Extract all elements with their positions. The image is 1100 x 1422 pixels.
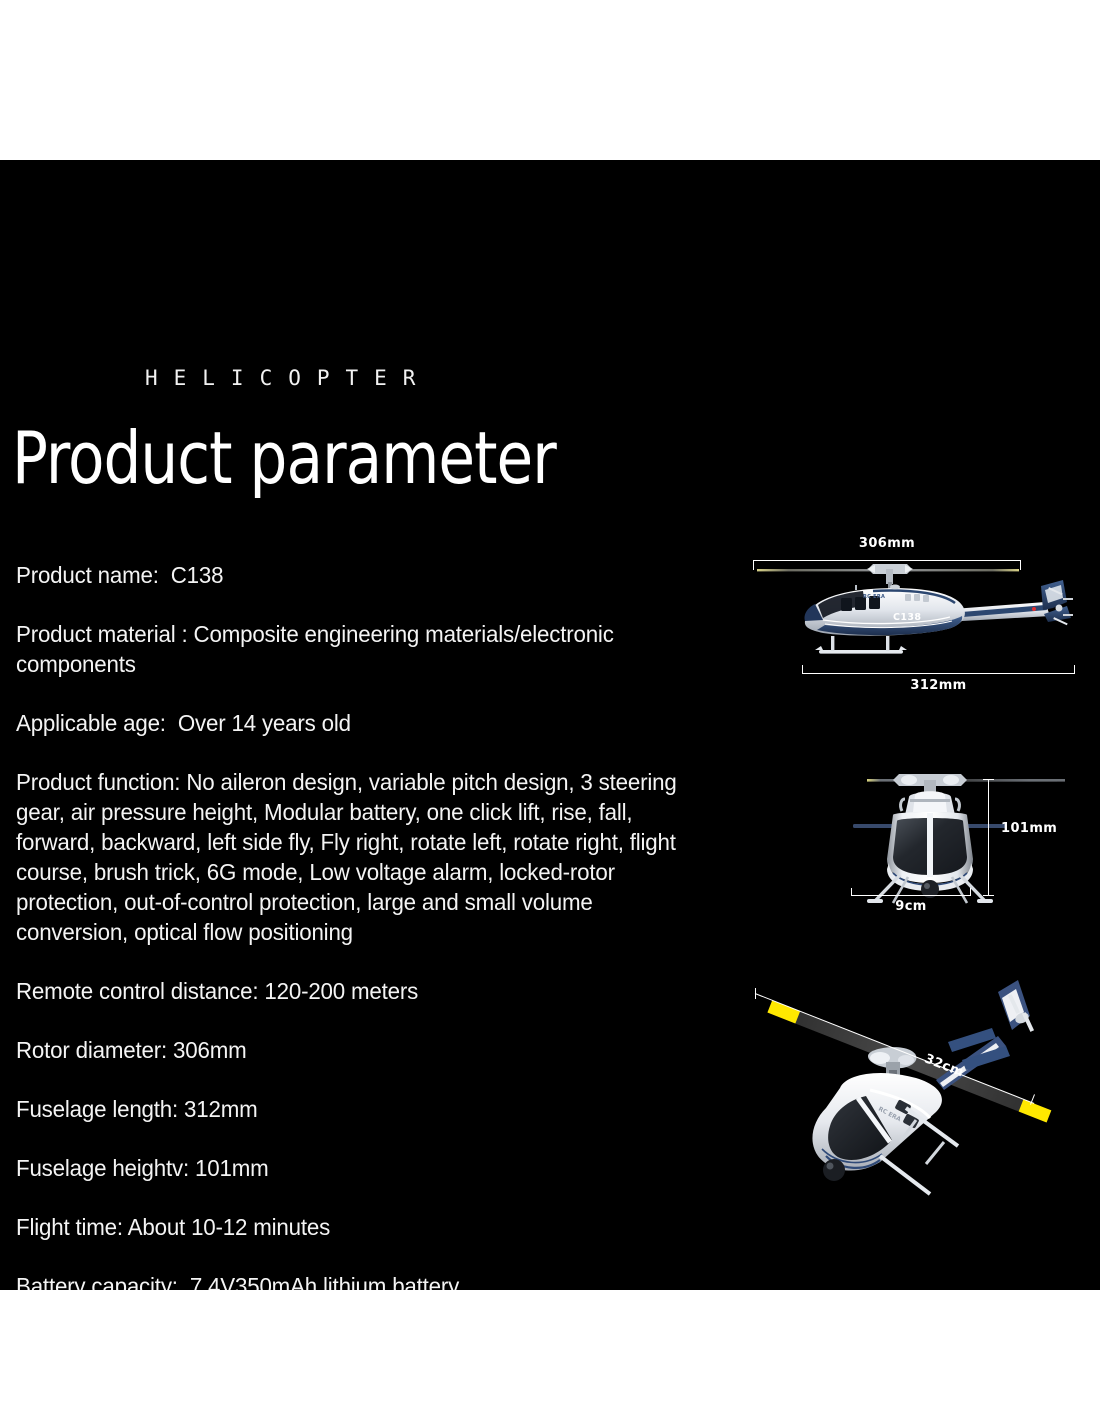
- dimension-cap-left-bottom: [802, 665, 803, 674]
- helicopter-angled-view-figure: RC ERA 32cm: [730, 950, 1100, 1212]
- spec-fuselage-height: Fuselage heightv: 101mm: [16, 1153, 681, 1183]
- helicopter-angled-illustration: RC ERA: [730, 950, 1100, 1212]
- spec-fuselage-length: Fuselage length: 312mm: [16, 1094, 681, 1124]
- spec-product-function: Product function: No aileron design, var…: [16, 767, 708, 947]
- helicopter-front-view-figure: 101mm 9cm: [745, 755, 1090, 930]
- dimension-line-fuselage: [802, 673, 1075, 674]
- dimension-cap-bottom: [983, 895, 994, 896]
- dimension-line-height: [988, 779, 989, 895]
- spec-rotor-diameter: Rotor diameter: 306mm: [16, 1035, 681, 1065]
- dimension-label-height: 101mm: [1001, 821, 1057, 836]
- kicker-heading: HELICOPTER: [145, 366, 431, 390]
- black-content-panel: HELICOPTER Product parameter Product nam…: [0, 160, 1100, 1290]
- spec-applicable-age: Applicable age: Over 14 years old: [16, 708, 681, 738]
- dimension-cap-span-start: [755, 988, 756, 999]
- dimension-cap-top: [983, 779, 994, 780]
- dimension-line-width: [851, 895, 971, 896]
- dimension-cap-width-right: [970, 888, 971, 896]
- page-title: Product parameter: [12, 422, 556, 494]
- spec-product-name: Product name: C138: [16, 560, 681, 590]
- helicopter-side-illustration: RC ERA C138: [745, 558, 1090, 678]
- dimension-cap-width-left: [851, 888, 852, 896]
- svg-text:RC ERA: RC ERA: [863, 594, 885, 600]
- product-parameter-page: HELICOPTER Product parameter Product nam…: [0, 0, 1100, 1422]
- spec-product-material: Product material : Composite engineering…: [16, 619, 708, 679]
- svg-text:C138: C138: [893, 612, 921, 623]
- spec-battery-capacity: Battery capacity: 7.4V350mAh lithium bat…: [16, 1271, 681, 1290]
- spec-remote-control-distance: Remote control distance: 120-200 meters: [16, 976, 681, 1006]
- dimension-label-fuselage-length: 312mm: [802, 678, 1075, 693]
- spec-list: Product name: C138 Product material : Co…: [16, 560, 716, 1290]
- helicopter-side-view-figure: 306mm: [745, 532, 1090, 704]
- spec-flight-time: Flight time: About 10-12 minutes: [16, 1212, 681, 1242]
- dimension-label-rotor-diameter: 306mm: [753, 536, 1021, 551]
- dimension-cap-right-bottom: [1074, 665, 1075, 674]
- dimension-label-width: 9cm: [851, 899, 971, 914]
